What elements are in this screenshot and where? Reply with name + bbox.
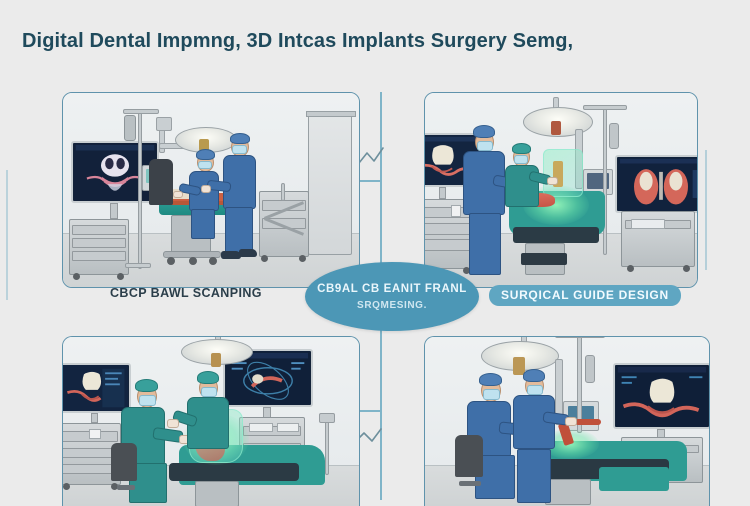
clinician-stool	[111, 443, 137, 481]
panel-cbct-scanning[interactable]	[62, 92, 360, 288]
connector-vertical-right-edge	[705, 150, 707, 270]
monitor-tooth-gum-scan	[613, 363, 710, 429]
zigzag-mark-upper	[356, 145, 392, 167]
monitor-tooth-scan	[62, 363, 131, 413]
connector-horizontal-bottom	[358, 410, 382, 412]
scene-illustration-top-left	[63, 93, 359, 287]
panel-implant-surgery[interactable]	[424, 336, 710, 506]
equipment-cart-left	[69, 219, 129, 275]
hologram-overlay	[543, 149, 583, 197]
panel-guided-implant-placement[interactable]	[62, 336, 360, 506]
doorway	[308, 115, 352, 255]
cart-wheel	[73, 273, 80, 280]
cart-wheel	[117, 273, 124, 280]
connector-vertical-left-edge	[6, 170, 8, 300]
scene-illustration-bottom-right	[425, 337, 709, 506]
panel-surgical-guide-design[interactable]	[424, 92, 698, 288]
connector-vertical-top-center	[380, 92, 382, 264]
hub-line-1: CB9AL CB EANIT FRANL	[317, 283, 467, 295]
caption-cbct-scanning: CBCP BAWL SCANPING	[110, 286, 262, 300]
surgical-mask	[198, 161, 212, 169]
connector-vertical-bottom-center	[380, 330, 382, 500]
monitor-stand	[110, 203, 118, 219]
scene-illustration-top-right	[425, 93, 697, 287]
clinician-stool	[455, 435, 483, 477]
monitor-3d-jaw-render	[615, 155, 698, 213]
infographic-canvas: Digital Dental Impmng, 3D Intcas Implant…	[0, 0, 750, 500]
page-title: Digital Dental Impmng, 3D Intcas Implant…	[22, 30, 573, 53]
scene-illustration-bottom-left	[63, 337, 359, 506]
connector-horizontal-left	[358, 180, 382, 182]
center-hub-ellipse[interactable]: CB9AL CB EANIT FRANL SRQMESING.	[305, 262, 479, 331]
caption-surgical-guide-design: SURQICAL GUIDE DESIGN	[489, 285, 681, 306]
hub-line-2: SRQMESING.	[357, 300, 427, 311]
surgical-cap	[196, 149, 215, 160]
